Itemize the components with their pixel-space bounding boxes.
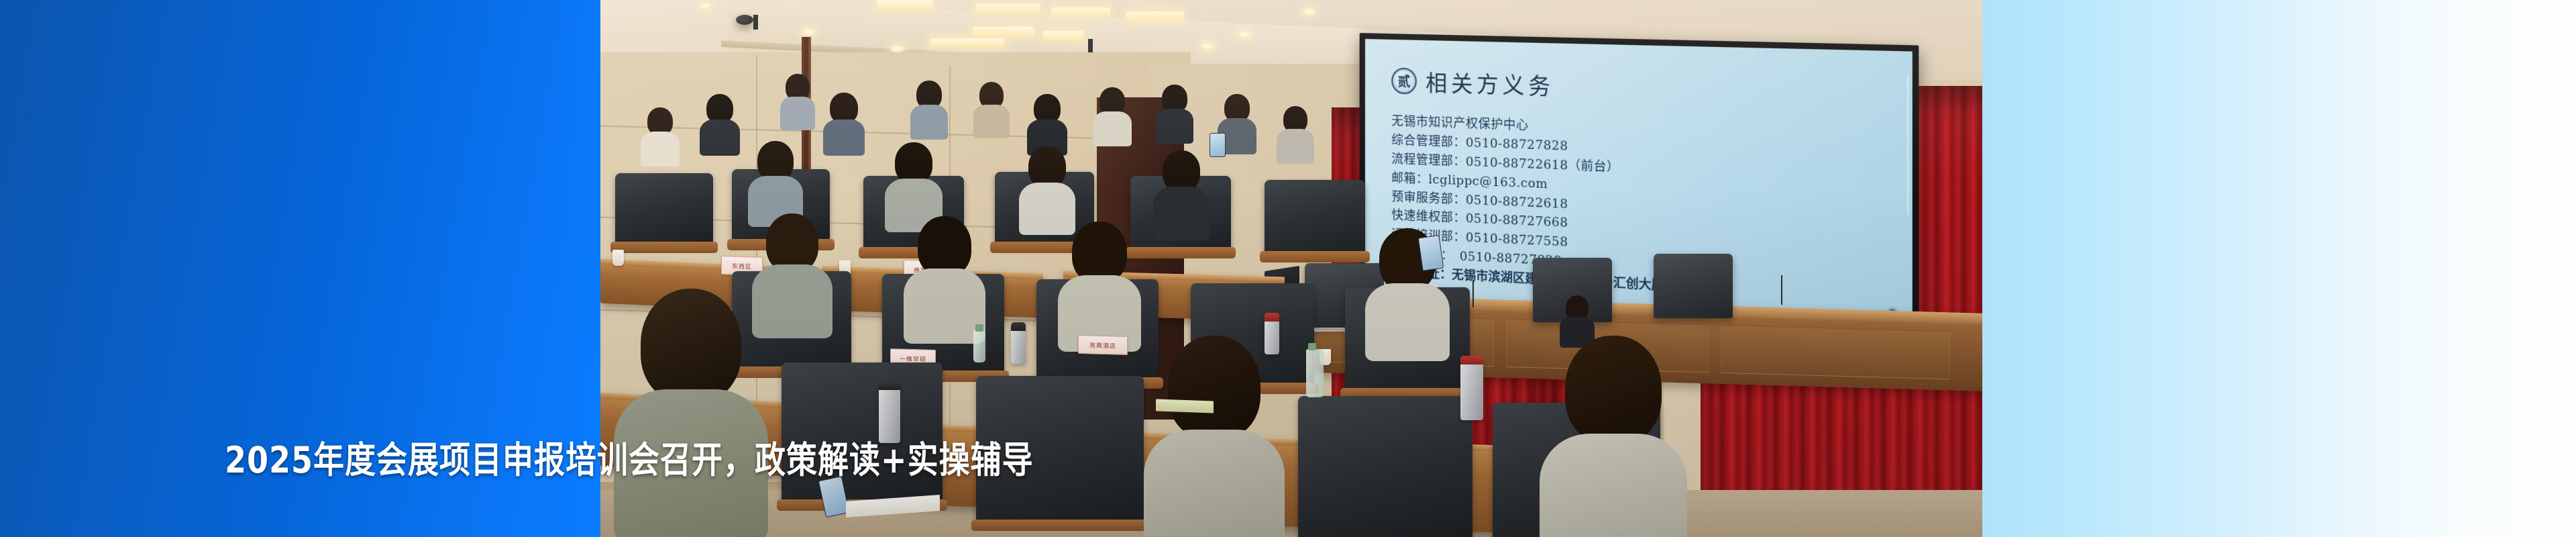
ceiling-light-strip xyxy=(976,4,1040,13)
slide-heading-row: 贰 相关方义务 xyxy=(1391,64,1895,111)
attendee-torso xyxy=(823,119,865,156)
attendee xyxy=(1019,146,1075,227)
downlight xyxy=(890,45,904,52)
circle-seal-icon: 贰 xyxy=(1391,67,1417,94)
thermos-flask xyxy=(1011,322,1026,364)
attendee xyxy=(780,74,815,126)
attendee xyxy=(1156,85,1193,141)
microphone-stand xyxy=(1781,275,1782,305)
smartphone xyxy=(1418,235,1444,271)
attendee-head xyxy=(918,216,971,277)
banner-image: 贰 相关方义务 无锡市知识产权保护中心 综合管理部：0510-88727828 … xyxy=(0,0,2576,537)
attendee xyxy=(885,142,943,224)
thermos-flask xyxy=(879,381,900,443)
attendee-torso xyxy=(1156,109,1193,144)
ceiling-light-strip xyxy=(1043,31,1083,40)
attendee-head xyxy=(1168,336,1260,440)
attendee xyxy=(748,141,803,220)
handout-paper xyxy=(1156,399,1214,413)
attendee xyxy=(1093,87,1132,144)
ceiling-light-strip xyxy=(1126,11,1184,20)
attendee-foreground xyxy=(614,289,768,537)
attendee xyxy=(1058,222,1141,341)
screen-cord xyxy=(1907,74,1909,215)
headline-title: 2025年度会展项目申报培训会召开，政策解读+实操辅导 xyxy=(225,442,1034,478)
slide-title: 相关方义务 xyxy=(1426,65,1554,101)
attendee-head xyxy=(1565,336,1662,444)
attendee-foreground xyxy=(1540,336,1687,537)
attendee-torso xyxy=(1540,434,1687,537)
attendee-torso xyxy=(1153,187,1210,240)
attendee-head xyxy=(1028,146,1066,188)
attendee xyxy=(973,82,1010,136)
ceiling-light-strip xyxy=(1051,7,1110,16)
microphone-stand xyxy=(1472,281,1474,307)
attendee-head xyxy=(895,142,932,184)
attendee-torso xyxy=(1093,111,1132,146)
audience-chair xyxy=(1265,180,1365,255)
downlight xyxy=(1200,42,1214,50)
attendee xyxy=(1027,94,1067,152)
attendee-head xyxy=(757,141,794,181)
attendee xyxy=(904,216,985,334)
attendee xyxy=(823,93,865,152)
head-table-panel xyxy=(1721,325,1950,380)
ceiling-projector xyxy=(736,15,753,25)
downlight xyxy=(698,2,712,9)
smartphone xyxy=(1210,133,1226,157)
ceiling-light-strip xyxy=(930,38,1004,47)
attendee-foreground xyxy=(1144,336,1285,537)
audience-chair xyxy=(1298,396,1472,537)
downlight xyxy=(802,28,816,36)
attendee-torso xyxy=(1144,430,1285,537)
downlight xyxy=(1302,8,1316,15)
attendee-head xyxy=(1072,222,1127,283)
right-gradient-panel xyxy=(1982,0,2576,537)
attendee-torso xyxy=(1277,129,1314,164)
attendee-torso xyxy=(641,132,680,166)
water-bottle xyxy=(1306,349,1324,397)
paper-cup xyxy=(612,250,624,266)
attendee-head xyxy=(766,213,818,273)
thermos-flask xyxy=(1460,356,1483,420)
downlight xyxy=(1238,31,1252,38)
attendee-torso xyxy=(1365,283,1450,361)
attendee xyxy=(641,107,680,162)
attendee-torso xyxy=(780,97,815,130)
projector-mount-rod xyxy=(753,15,758,30)
dais-chair xyxy=(1654,254,1733,318)
attendee-torso xyxy=(973,105,1010,138)
table-tent-card: 亮典酒店 xyxy=(1078,335,1128,355)
slide-body: 无锡市知识产权保护中心 综合管理部：0510-88727828 流程管理部：05… xyxy=(1391,112,1895,307)
attendee-torso xyxy=(910,105,948,140)
attendee-head xyxy=(1163,150,1200,192)
ceiling-light-strip xyxy=(973,27,1034,36)
audience-chair xyxy=(615,173,713,246)
attendee xyxy=(910,81,948,136)
attendee-torso xyxy=(700,119,740,156)
audience-chair xyxy=(782,362,943,503)
attendee xyxy=(1277,106,1314,161)
attendee-head xyxy=(641,289,741,403)
ceiling-light-strip xyxy=(877,0,933,9)
attendee xyxy=(1153,150,1210,232)
water-bottle xyxy=(973,330,985,362)
attendee xyxy=(700,94,740,152)
